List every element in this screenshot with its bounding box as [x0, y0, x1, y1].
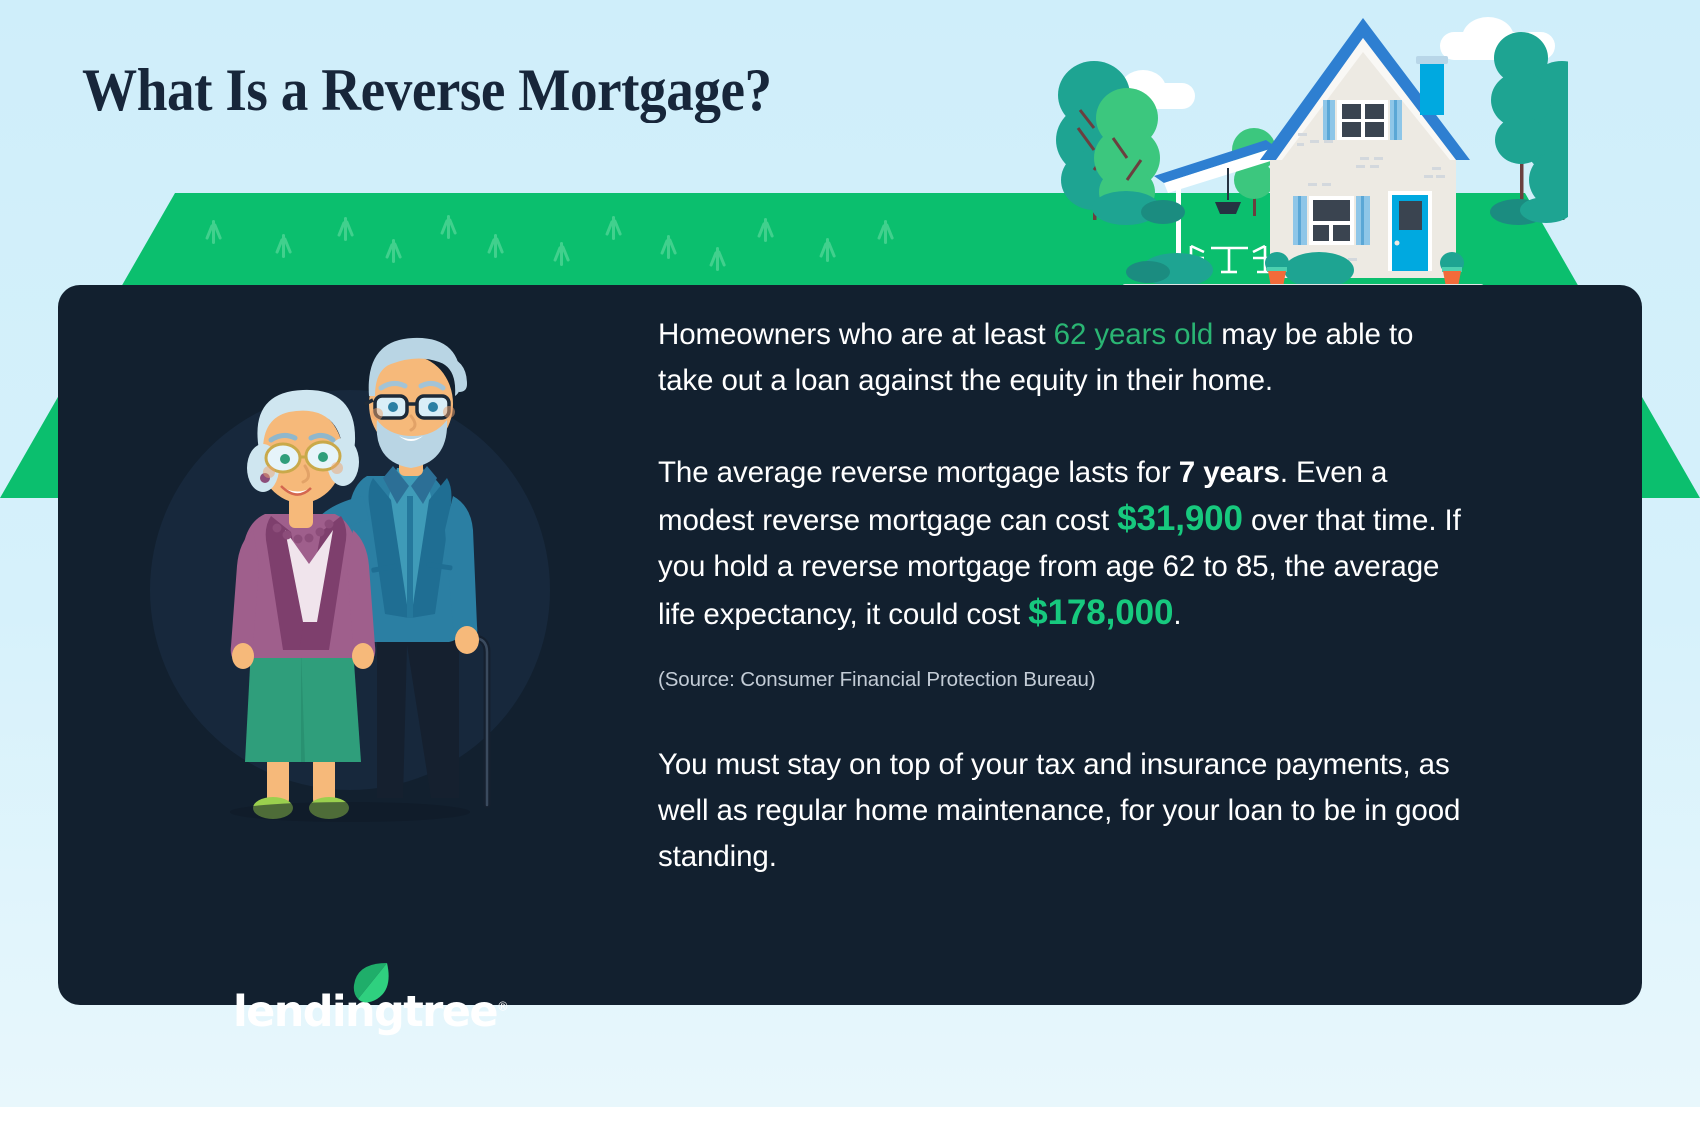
window-lower [1293, 196, 1370, 245]
registered-trademark-icon: ® [497, 1000, 509, 1014]
leaf-icon [351, 961, 389, 1003]
p1-highlight-age: 62 years old [1054, 318, 1214, 351]
paragraph-3: You must stay on top of your tax and ins… [658, 742, 1468, 880]
paragraph-2: The average reverse mortgage lasts for 7… [658, 450, 1468, 638]
window-upper [1323, 100, 1402, 140]
potted-plant-right [1440, 252, 1464, 287]
p2-amount-178000: $178,000 [1028, 593, 1173, 632]
house-illustration [1008, 0, 1568, 300]
p2-bold-duration: 7 years [1179, 456, 1280, 489]
paragraph-spacer [658, 404, 1468, 450]
ground-shadow [230, 802, 470, 822]
page-title: What Is a Reverse Mortgage? [82, 56, 910, 125]
p2-amount-31900: $31,900 [1117, 499, 1243, 538]
house-body [1260, 18, 1470, 278]
elderly-couple-illustration [115, 300, 585, 830]
logo-wordmark: lendingtree® [233, 991, 509, 1034]
potted-plant-left [1265, 252, 1289, 287]
p2-part1: The average reverse mortgage lasts for [658, 456, 1179, 489]
paragraph-1: Homeowners who are at least 62 years old… [658, 312, 1468, 404]
infographic-stage: What Is a Reverse Mortgage? Homeowners w… [0, 0, 1700, 1140]
front-door [1388, 191, 1432, 271]
p1-part1: Homeowners who are at least [658, 318, 1054, 351]
woman-figure [231, 390, 376, 819]
body-copy: Homeowners who are at least 62 years old… [658, 312, 1468, 880]
p2-part4: . [1173, 598, 1181, 631]
source-attribution: (Source: Consumer Financial Protection B… [658, 664, 1468, 696]
page-bottom-strip [0, 1107, 1700, 1140]
lendingtree-logo[interactable]: lendingtree® [233, 962, 553, 1034]
